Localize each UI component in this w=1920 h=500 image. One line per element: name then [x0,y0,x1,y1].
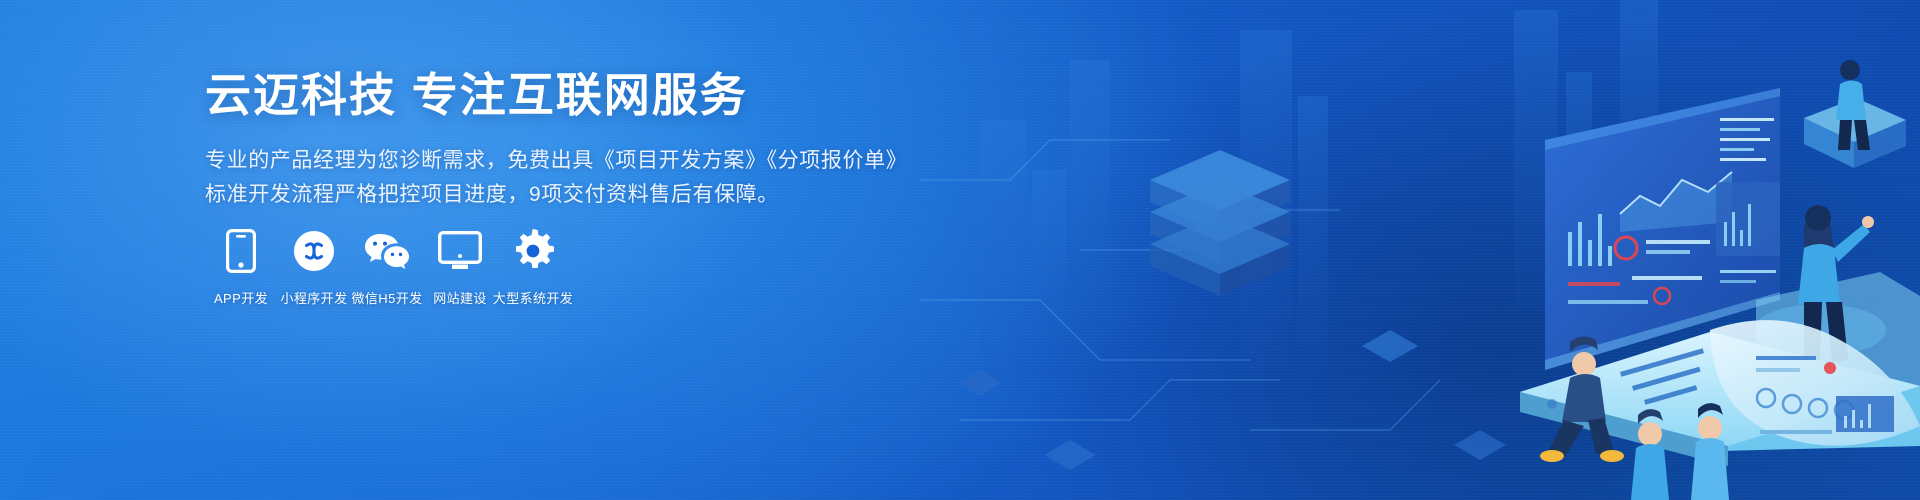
hero-banner: 云迈科技 专注互联网服务 专业的产品经理为您诊断需求，免费出具《项目开发方案》《… [0,0,1920,500]
service-list: APP开发 小程序开发 [205,228,569,307]
server-stack [1150,150,1290,296]
service-label: 小程序开发 [280,288,347,307]
service-label: 微信H5开发 [351,288,422,307]
subtitle-line-1: 专业的产品经理为您诊断需求，免费出具《项目开发方案》《分项报价单》 [205,144,905,178]
service-item-website[interactable]: 网站建设 [424,228,496,307]
subtitle-line-2: 标准开发流程严格把控项目进度，9项交付资料售后有保障。 [205,178,905,212]
service-label: 网站建设 [433,288,487,307]
banner-copy: 云迈科技 专注互联网服务 专业的产品经理为您诊断需求，免费出具《项目开发方案》《… [205,68,905,212]
page-title: 云迈科技 专注互联网服务 [205,68,905,122]
mobile-phone-icon [226,228,256,274]
service-item-large-system[interactable]: 大型系统开发 [497,228,569,307]
service-item-app[interactable]: APP开发 [205,228,277,307]
monitor-icon [438,228,482,274]
banner-subtitle: 专业的产品经理为您诊断需求，免费出具《项目开发方案》《分项报价单》 标准开发流程… [205,144,905,212]
gear-icon [511,228,555,274]
service-label: APP开发 [214,288,268,307]
mini-program-icon [293,228,335,274]
service-item-mini-program[interactable]: 小程序开发 [278,228,350,307]
person-on-cube [1804,60,1906,168]
service-item-wechat[interactable]: 微信H5开发 [351,228,423,307]
service-label: 大型系统开发 [493,288,573,307]
wechat-icon [364,228,410,274]
isometric-tech-illustration [920,0,1920,500]
